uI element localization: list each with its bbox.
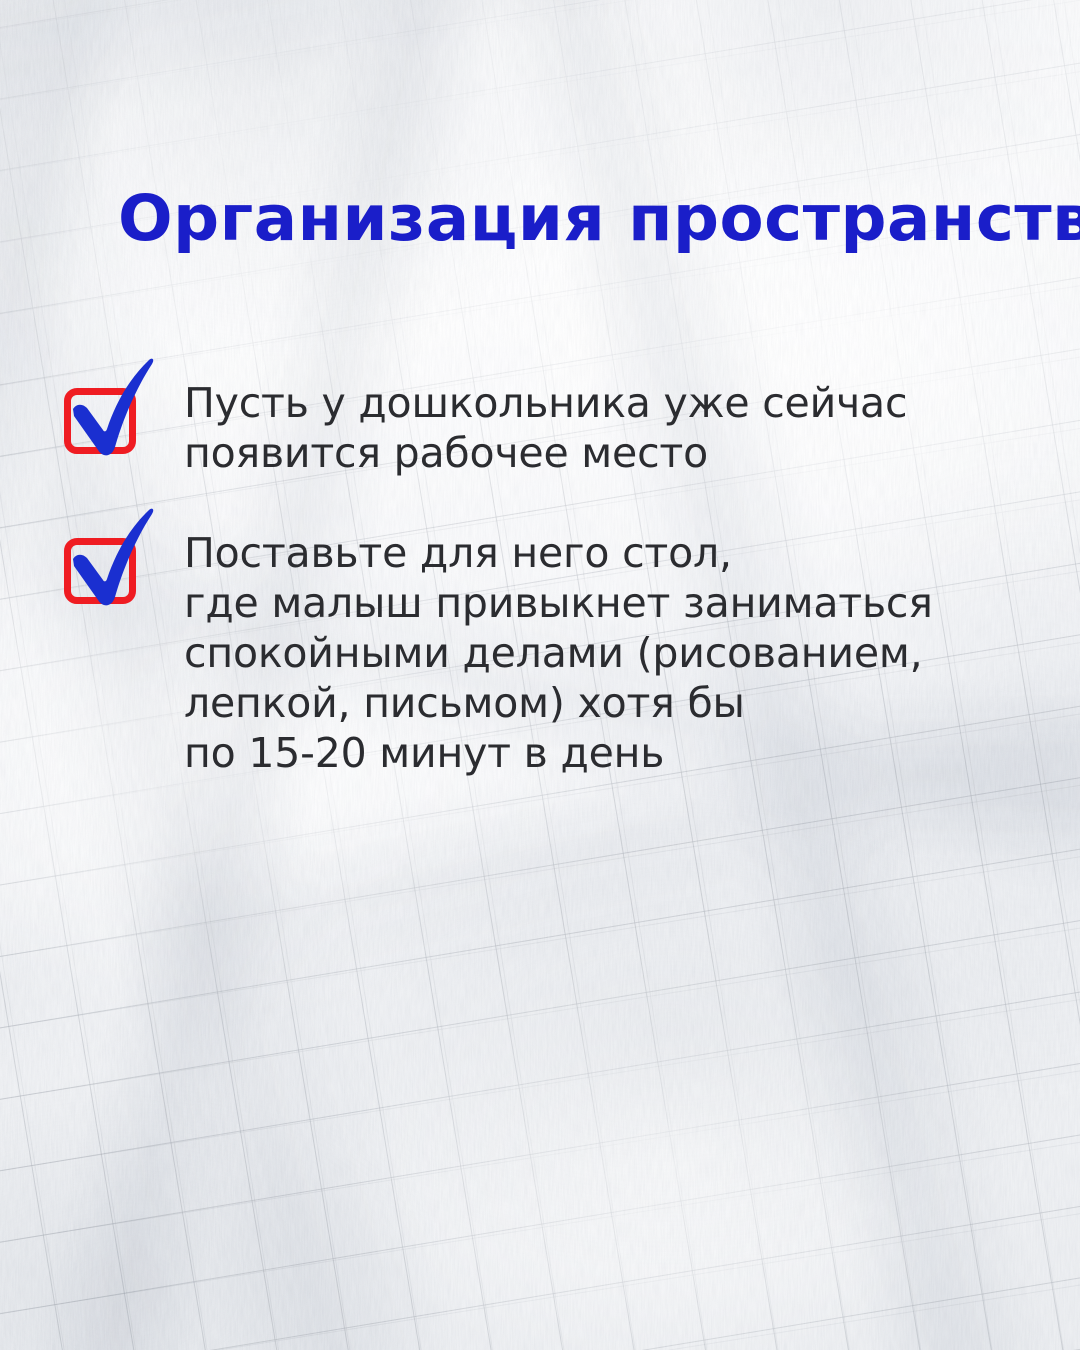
page-title: Организация пространства <box>118 186 995 252</box>
slide-content: Организация пространства Пусть у дошколь… <box>0 0 1080 1350</box>
check-tick-icon <box>56 500 166 620</box>
check-tick-icon <box>56 350 166 470</box>
slide-canvas: Организация пространства Пусть у дошколь… <box>0 0 1080 1350</box>
list-item-label: Пусть у дошкольника уже сейчас появится … <box>184 378 984 478</box>
checkbox-checked-icon[interactable] <box>56 350 166 470</box>
list-item-label: Поставьте для него стол, где малыш привы… <box>184 528 984 778</box>
checkbox-checked-icon[interactable] <box>56 500 166 620</box>
